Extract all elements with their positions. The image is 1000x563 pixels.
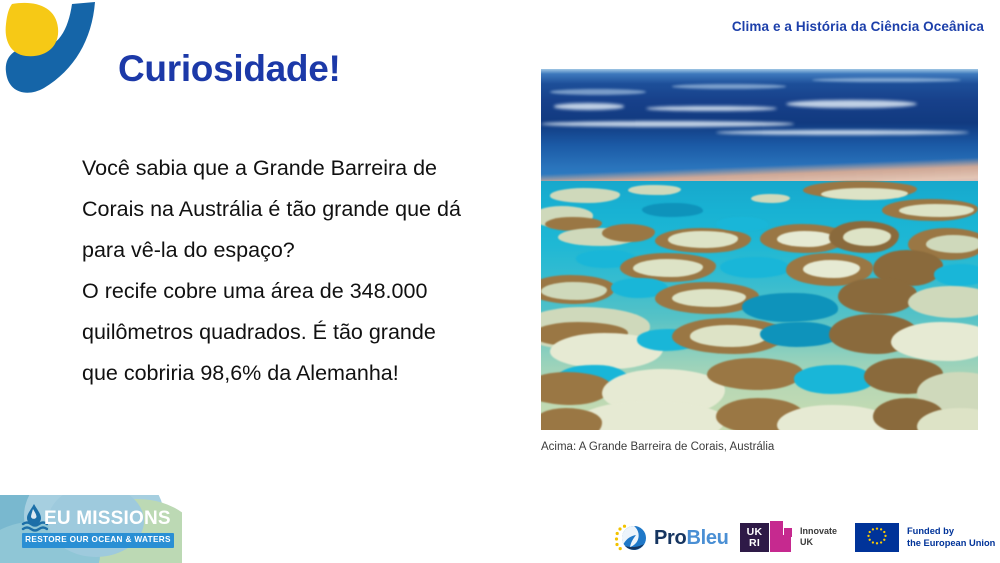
photo-detail [628,185,680,196]
photo-detail [742,293,838,322]
ukri-mark-line2: RI [740,537,769,549]
ukri-innovate-uk-logo: UK RI Innovate UK [740,521,844,555]
probleu-swirl-icon [612,523,650,553]
eu-funding-line1: Funded by [907,526,995,538]
photo-detail [716,130,969,135]
body-line: quilômetros quadrados. É tão grande [82,312,502,353]
body-line: Você sabia que a Grande Barreira de [82,148,502,189]
photo-caption: Acima: A Grande Barreira de Corais, Aust… [541,441,774,453]
eu-missions-wordmark: EU MISSIONS [44,508,171,530]
photo-detail [751,194,790,203]
body-line: O recife cobre uma área de 348.000 [82,271,502,312]
eu-funding-line2: the European Union [907,538,995,550]
logo-shape [770,521,783,535]
reef-photo-figure [541,69,978,430]
eu-missions-logo: EU MISSIONS RESTORE OUR OCEAN & WATERS [0,495,182,563]
ukri-mark: UK RI [740,523,769,552]
body-line: para vê-la do espaço? [82,230,502,271]
body-line: que cobriria 98,6% da Alemanha! [82,353,502,394]
innovate-uk-line1: Innovate [800,526,837,537]
photo-detail [934,264,978,286]
probleu-logo: ProBleu [612,521,724,555]
probleu-word-pro: Pro [654,527,686,549]
photo-detail [541,282,607,300]
body-copy: Você sabia que a Grande Barreira de Cora… [82,148,502,394]
photo-detail [602,224,654,242]
photo-detail [690,325,769,347]
eu-missions-tagline-bar: RESTORE OUR OCEAN & WATERS [22,533,174,548]
photo-detail [642,203,703,217]
eu-missions-missions: MISSIONS [76,508,171,529]
photo-detail [550,188,620,202]
logo-shape [770,535,791,552]
photo-detail [786,100,917,108]
reef-photo-image [541,69,978,430]
photo-detail [550,89,646,95]
photo-detail [668,231,738,248]
photo-detail [672,84,786,89]
logo-shape [784,528,792,537]
photo-detail [794,365,873,394]
brand-mark-icon [0,0,104,100]
eu-funding-logo: Funded by the European Union [855,521,987,555]
photo-detail [720,257,790,279]
eu-missions-eu: EU [44,508,71,529]
eu-funding-label: Funded by the European Union [907,526,995,549]
eu-missions-tagline: RESTORE OUR OCEAN & WATERS [22,535,174,544]
photo-detail [707,358,803,390]
page-title: Curiosidade! [118,48,341,90]
probleu-wordmark: ProBleu [654,527,729,550]
photo-detail [760,322,839,347]
photo-detail [843,228,891,246]
eu-flag-icon [855,523,899,552]
slide-canvas: Clima e a História da Ciência Oceânica C… [0,0,1000,563]
body-line: Corais na Austrália é tão grande que dá [82,189,502,230]
innovate-uk-label: Innovate UK [800,526,837,548]
header-title: Clima e a História da Ciência Oceânica [732,19,984,34]
photo-detail [633,259,703,277]
probleu-word-bleu: Bleu [686,527,728,549]
photo-detail [554,103,624,109]
innovate-uk-line2: UK [800,537,837,548]
